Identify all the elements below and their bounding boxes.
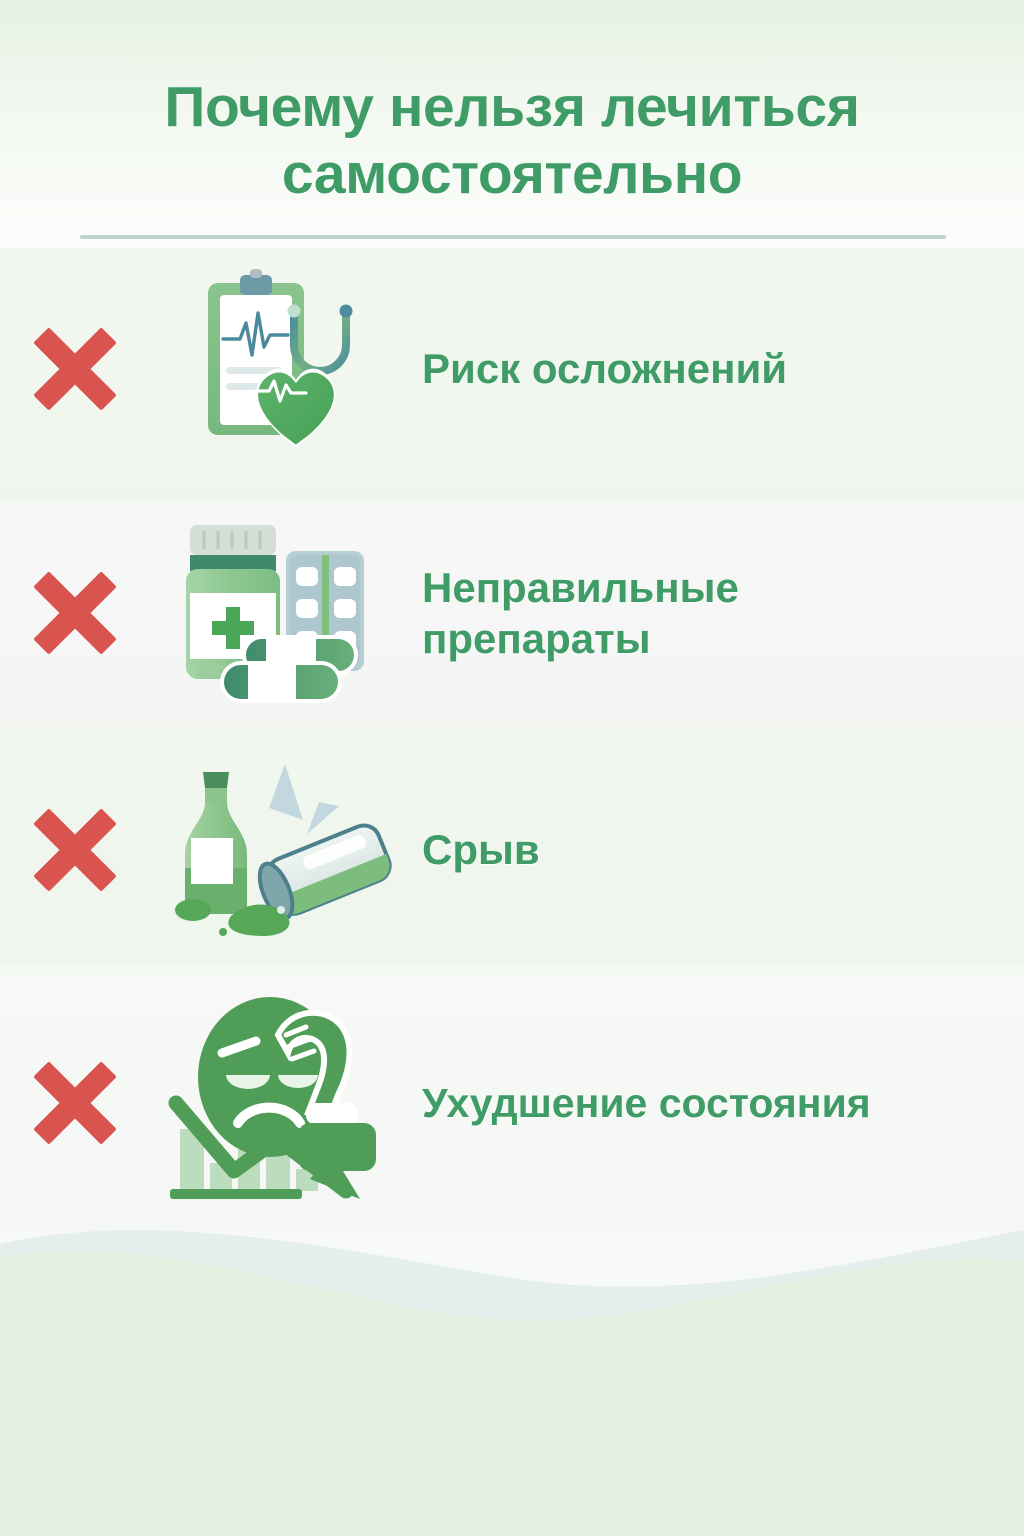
list-item-label: Срыв (422, 824, 984, 875)
label-cell: Риск осложнений (410, 343, 1024, 394)
bottom-decoration (0, 1200, 1024, 1536)
header-divider (80, 235, 946, 239)
page-title: Почему нельзя лечиться самостоятельно (82, 74, 942, 209)
cross-cell (0, 327, 150, 411)
red-cross-icon (33, 571, 117, 655)
cross-cell (0, 808, 150, 892)
illustration-cell (150, 269, 410, 469)
label-cell: Ухудшение состояния (410, 1078, 1024, 1128)
red-cross-icon (33, 1061, 117, 1145)
poster-canvas: Почему нельзя лечиться самостоятельно (0, 0, 1024, 1536)
list-item: Неправильные препараты (0, 500, 1024, 726)
wave-shape-icon (0, 1200, 1024, 1536)
clipboard-ecg-heart-stethoscope-icon (160, 269, 400, 469)
pill-bottle-blister-capsules-icon (160, 515, 400, 711)
list-item-label: Неправильные препараты (422, 562, 984, 664)
list-item: Срыв (0, 736, 1024, 964)
list-item: Ухудшение состояния (0, 974, 1024, 1232)
illustration-cell (150, 991, 410, 1215)
bottle-spilled-glass-icon (157, 750, 403, 950)
label-cell: Неправильные препараты (410, 562, 1024, 664)
cross-cell (0, 1061, 150, 1145)
page-title-line-1: Почему нельзя лечиться (82, 74, 942, 141)
red-cross-icon (33, 327, 117, 411)
list-item-label-line-1: Неправильные (422, 564, 739, 611)
label-cell: Срыв (410, 824, 1024, 875)
list-item-label: Ухудшение состояния (422, 1078, 984, 1128)
list-item-label: Риск осложнений (422, 343, 984, 394)
list-item-label-line-2: препараты (422, 615, 651, 662)
poster-header: Почему нельзя лечиться самостоятельно (0, 0, 1024, 248)
illustration-cell (150, 515, 410, 711)
page-title-line-2: самостоятельно (82, 141, 942, 208)
list-item: Риск осложнений (0, 248, 1024, 490)
illustration-cell (150, 750, 410, 950)
cross-cell (0, 571, 150, 655)
sad-face-declining-chart-icon (160, 991, 400, 1215)
red-cross-icon (33, 808, 117, 892)
